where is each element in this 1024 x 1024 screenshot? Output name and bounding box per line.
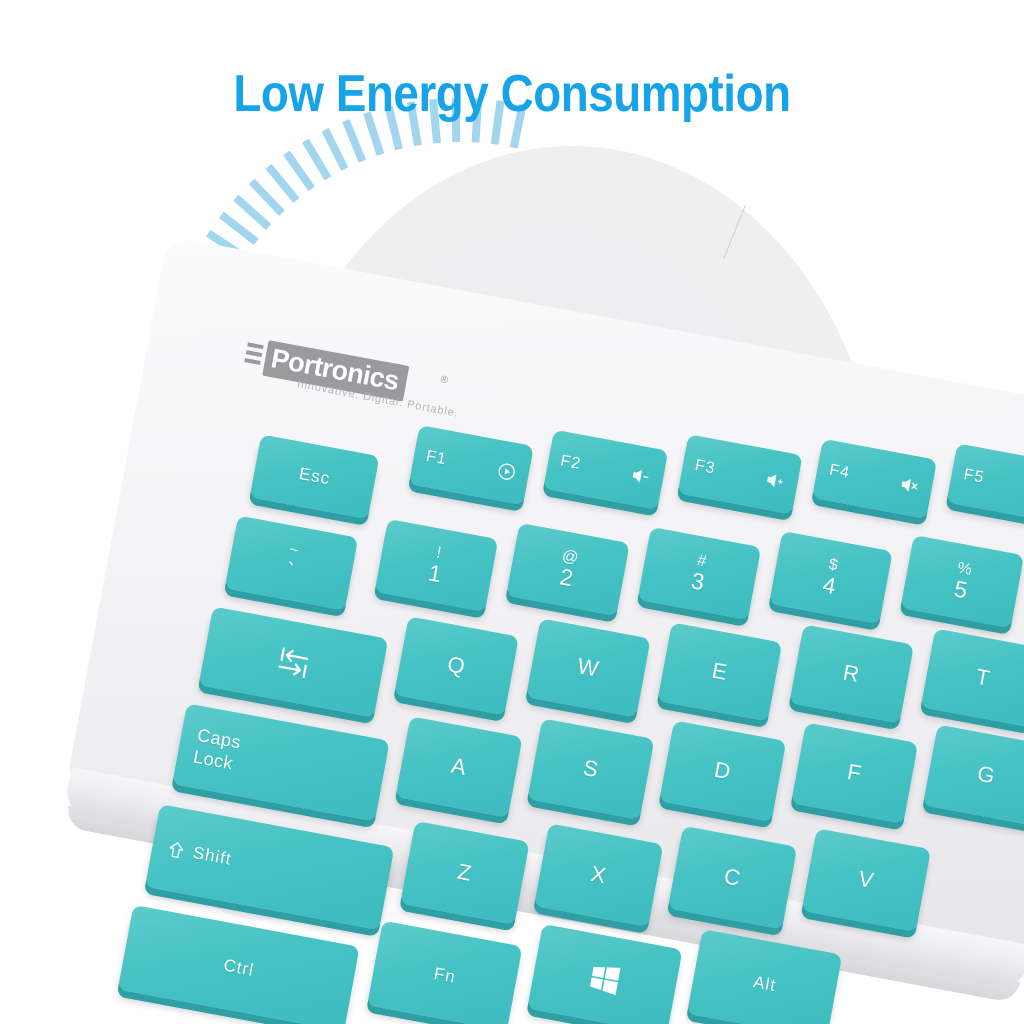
keycap-primary-legend: S xyxy=(581,755,601,783)
keycap-primary-legend: Ctrl xyxy=(222,956,256,981)
keycap-primary-legend: W xyxy=(575,653,601,683)
play-circle-icon xyxy=(495,460,518,483)
arc-tick xyxy=(342,119,366,163)
page-title: Low Energy Consumption xyxy=(61,64,962,124)
keycap-primary-legend: C xyxy=(722,863,743,892)
keycap-primary-legend: X xyxy=(589,861,609,889)
keycap-primary-legend: 5 xyxy=(952,577,969,603)
keycap-primary-legend: Z xyxy=(455,859,474,887)
keycap-primary-legend: T xyxy=(974,664,993,692)
keycap-shifted-legend: $ xyxy=(827,557,839,575)
keycap-primary-legend: Fn xyxy=(432,964,457,988)
volume-up-icon xyxy=(764,469,787,492)
keycap-primary-legend: ` xyxy=(284,559,296,584)
keycap-shifted-legend: % xyxy=(956,560,973,579)
portronics-bars-icon xyxy=(244,342,264,367)
keycap-legend: Ctrl xyxy=(118,905,360,1024)
keycap-shifted-legend: ! xyxy=(435,545,442,562)
keycap-primary-legend: F xyxy=(845,759,864,787)
keycap-primary-legend: Q xyxy=(445,651,468,680)
keycap-primary-legend: A xyxy=(449,753,469,781)
keycap-legend: Fn xyxy=(367,921,522,1024)
product-marketing-image: Low Energy Consumption Portronics ® Inno… xyxy=(0,0,1024,1024)
volume-down-icon xyxy=(629,465,652,488)
keycap-primary-legend: F4 xyxy=(828,462,852,483)
keycap-shifted-legend: ~ xyxy=(288,542,300,560)
keycap-primary-legend: F2 xyxy=(559,452,583,473)
keycap-primary-legend: F3 xyxy=(693,457,717,478)
mute-icon xyxy=(898,474,921,497)
key-win[interactable] xyxy=(527,924,682,1024)
arc-tick xyxy=(322,128,349,171)
keycap-primary-legend: Esc xyxy=(297,464,331,489)
keycap-primary-legend: F5 xyxy=(962,466,986,487)
keycap-primary-legend: 4 xyxy=(821,573,838,599)
keyboard-product: Portronics ® Innovative. Digital. Portab… xyxy=(51,236,1024,1024)
keycap-primary-legend: Alt xyxy=(752,972,778,996)
tab-arrows-icon xyxy=(265,641,322,684)
keycap-primary-legend: E xyxy=(710,658,730,686)
shift-arrow-icon xyxy=(164,837,188,862)
keycap-legend xyxy=(527,924,682,1024)
windows-icon xyxy=(585,960,624,998)
keycap-primary-legend: Shift xyxy=(191,843,233,870)
key-ctrl[interactable]: Ctrl xyxy=(118,905,360,1024)
keycap-primary-legend: D xyxy=(712,757,733,786)
keycap-primary-legend: 2 xyxy=(558,565,575,591)
keycap-primary-legend: V xyxy=(856,866,876,894)
keycap-shifted-legend: @ xyxy=(561,548,580,567)
key-fn[interactable]: Fn xyxy=(367,921,522,1024)
registered-mark: ® xyxy=(439,374,448,386)
keycap-shifted-legend: # xyxy=(696,553,708,571)
keycap-primary-legend: F1 xyxy=(424,448,448,469)
keycap-primary-legend: R xyxy=(841,660,862,689)
keycap-primary-legend: 3 xyxy=(689,569,706,595)
keycap-primary-legend: 1 xyxy=(426,561,443,587)
keycap-primary-legend: G xyxy=(975,761,998,790)
